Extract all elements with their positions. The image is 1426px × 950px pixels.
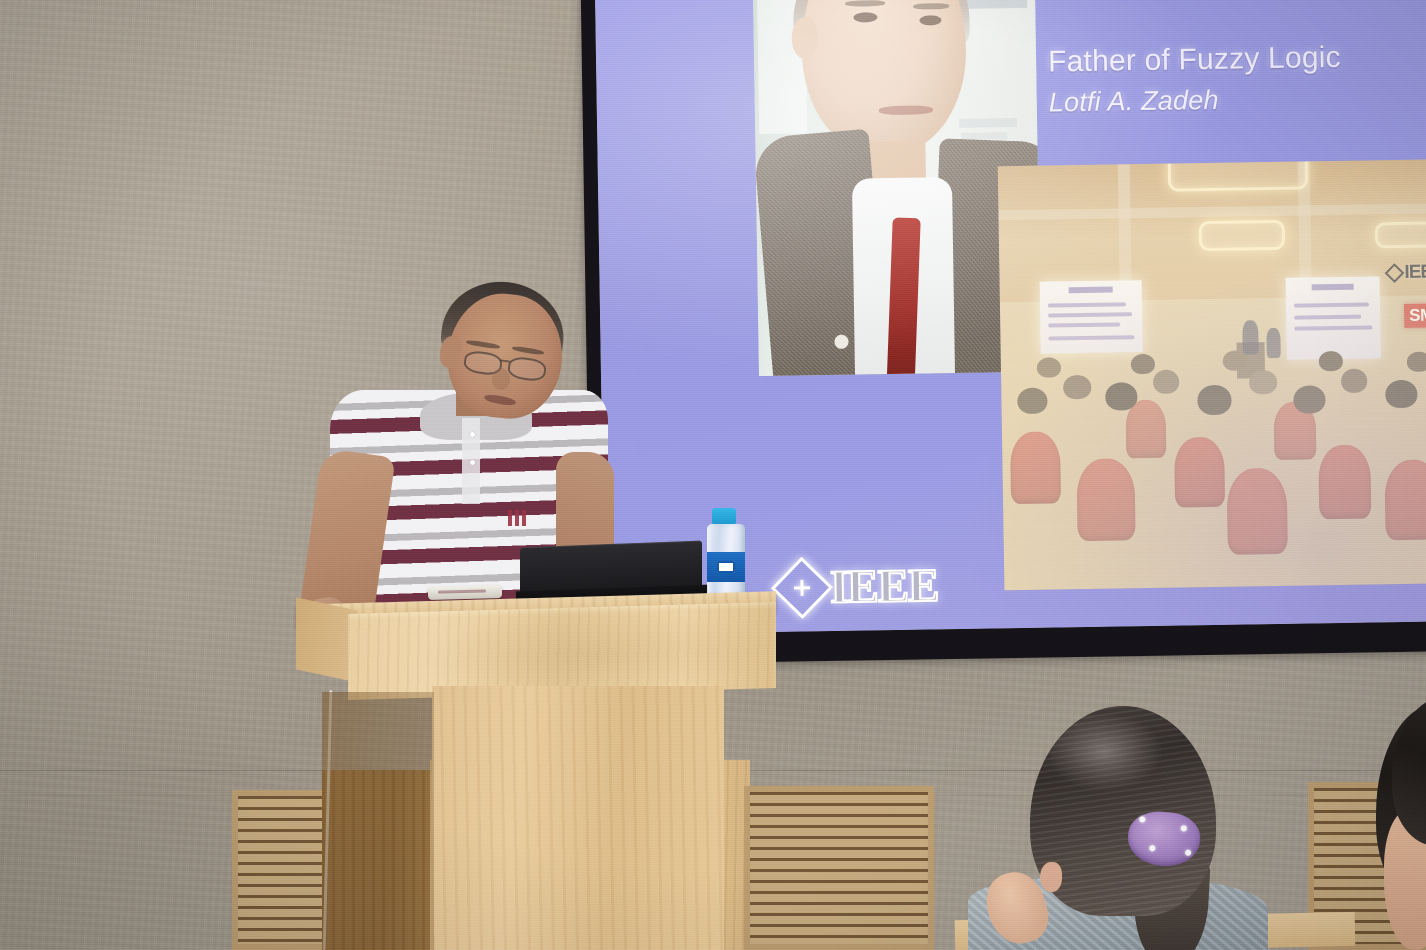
portrait-ear bbox=[791, 17, 818, 59]
water-bottle bbox=[707, 508, 745, 604]
presenter-nose bbox=[492, 368, 510, 390]
presenter-remote[interactable] bbox=[428, 585, 502, 600]
audience-head bbox=[1197, 385, 1231, 416]
audience-head bbox=[1153, 370, 1179, 394]
audience-head bbox=[1341, 369, 1367, 393]
bottle-cap bbox=[712, 508, 736, 524]
slide-text-line bbox=[1293, 303, 1368, 308]
conference-crowd bbox=[1001, 337, 1426, 590]
slide-subtitle: Lotfi A. Zadeh bbox=[1049, 85, 1219, 119]
lectern-body bbox=[432, 686, 724, 950]
portrait-brow-right bbox=[913, 3, 949, 10]
conference-audience-photo: IEEE SMC 2 bbox=[998, 159, 1426, 590]
slide-title: Father of Fuzzy Logic bbox=[1048, 41, 1341, 80]
audience-head bbox=[1223, 351, 1247, 371]
banquet-chair bbox=[1318, 445, 1371, 520]
audience-head bbox=[1105, 382, 1137, 410]
ieee-banner-text: IEEE bbox=[1404, 261, 1426, 284]
chandelier-icon bbox=[1199, 220, 1285, 251]
portrait-necktie bbox=[887, 217, 921, 376]
slide-header-bar bbox=[1068, 286, 1113, 293]
ieee-logo: IEEE bbox=[780, 559, 939, 615]
slide-text-line bbox=[1294, 314, 1362, 319]
chandelier-icon bbox=[1375, 221, 1426, 248]
slide-text-line bbox=[1049, 335, 1135, 340]
presenter-shirt-button bbox=[470, 432, 475, 437]
presenter-shirt-button bbox=[470, 460, 475, 465]
audience-head bbox=[1293, 385, 1325, 413]
audience-head bbox=[1063, 375, 1091, 399]
chandelier-icon bbox=[1167, 159, 1308, 191]
banquet-chair bbox=[1227, 468, 1288, 555]
vent-slats bbox=[750, 792, 928, 944]
audience-head bbox=[1385, 380, 1417, 408]
audience-head bbox=[1131, 354, 1155, 374]
audience-head bbox=[1249, 370, 1277, 394]
slide-header-bar bbox=[1312, 283, 1353, 290]
banquet-chair bbox=[1174, 437, 1225, 508]
audience-head bbox=[1017, 388, 1047, 414]
conference-banner-ieee: IEEE bbox=[1387, 261, 1426, 284]
audience-head bbox=[1407, 352, 1426, 372]
lectern-side-shadow bbox=[322, 692, 434, 950]
slide-text-line bbox=[1048, 302, 1126, 307]
banquet-chair bbox=[1125, 400, 1166, 459]
bottle-label bbox=[707, 552, 745, 582]
audience-ear bbox=[1040, 862, 1062, 892]
conference-banner-smc: SMC 2 bbox=[1404, 303, 1426, 328]
ieee-diamond-icon bbox=[771, 557, 833, 619]
air-vent-panel-mid bbox=[744, 786, 934, 950]
ieee-wordmark: IEEE bbox=[830, 559, 939, 615]
presenter-shirt-logo bbox=[508, 510, 526, 526]
slide-text-line bbox=[1048, 322, 1119, 327]
banquet-chair bbox=[1010, 431, 1061, 504]
slide-text-line bbox=[1294, 326, 1373, 331]
ieee-diamond-icon bbox=[1385, 263, 1405, 283]
banquet-chair bbox=[1076, 458, 1135, 541]
photo-scene: IEEE SMC 2 bbox=[0, 0, 1426, 950]
audience-head bbox=[1319, 351, 1343, 371]
slide-text-line bbox=[1048, 312, 1132, 317]
banquet-chair bbox=[1384, 459, 1426, 540]
portrait-bg-strip bbox=[959, 118, 1017, 128]
audience-head bbox=[1037, 357, 1061, 377]
